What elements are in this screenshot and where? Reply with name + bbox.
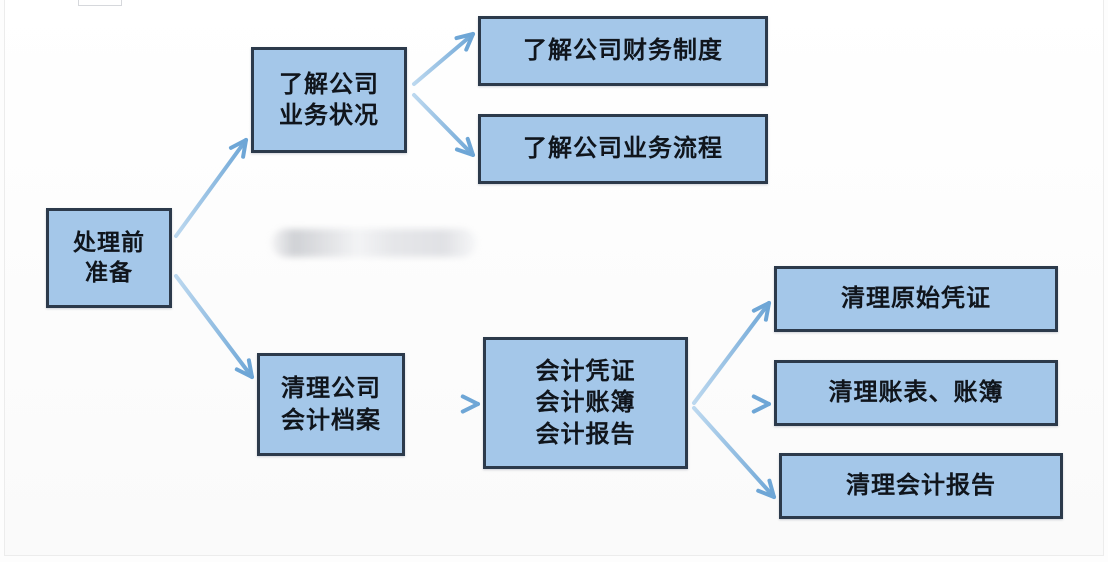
node-clean-vouchers[interactable]: 清理原始凭证: [774, 266, 1058, 332]
arrow-business-to-finance: [414, 34, 473, 84]
node-clean-reports[interactable]: 清理会计报告: [779, 453, 1063, 519]
node-label: 会计账簿: [536, 387, 636, 418]
node-label: 处理前: [73, 228, 145, 258]
node-records[interactable]: 会计凭证会计账簿会计报告: [483, 337, 688, 469]
node-label: 清理原始凭证: [841, 283, 991, 314]
node-label: 清理会计报告: [846, 470, 996, 501]
arrow-archives-to-records: [410, 396, 478, 411]
node-root[interactable]: 处理前准备: [46, 208, 172, 308]
node-label: 会计凭证: [536, 356, 636, 387]
node-archives[interactable]: 清理公司会计档案: [257, 353, 405, 456]
arrow-business-to-business-flow: [414, 95, 473, 155]
node-label: 准备: [85, 258, 133, 288]
node-label: 了解公司财务制度: [523, 35, 723, 66]
node-label: 会计档案: [281, 405, 381, 436]
arrow-records-to-reports: [694, 408, 774, 497]
node-label: 清理公司: [281, 373, 381, 404]
arrow-records-to-books: [694, 396, 769, 411]
arrow-root-to-business: [176, 140, 246, 236]
node-label: 清理账表、账簿: [829, 377, 1004, 408]
arrow-records-to-vouchers: [694, 303, 769, 403]
redaction-bar: [272, 229, 476, 257]
node-clean-books[interactable]: 清理账表、账簿: [774, 360, 1058, 426]
node-label: 业务状况: [279, 100, 379, 131]
arrow-root-to-archives: [176, 276, 252, 377]
node-label: 了解公司: [279, 69, 379, 100]
node-label: 会计报告: [536, 419, 636, 450]
diagram-canvas: 处理前准备了解公司业务状况了解公司财务制度了解公司业务流程清理公司会计档案会计凭…: [0, 0, 1108, 562]
node-business[interactable]: 了解公司业务状况: [251, 47, 407, 153]
node-label: 了解公司业务流程: [523, 133, 723, 164]
node-business-flow[interactable]: 了解公司业务流程: [478, 114, 768, 184]
node-finance-system[interactable]: 了解公司财务制度: [478, 16, 768, 86]
